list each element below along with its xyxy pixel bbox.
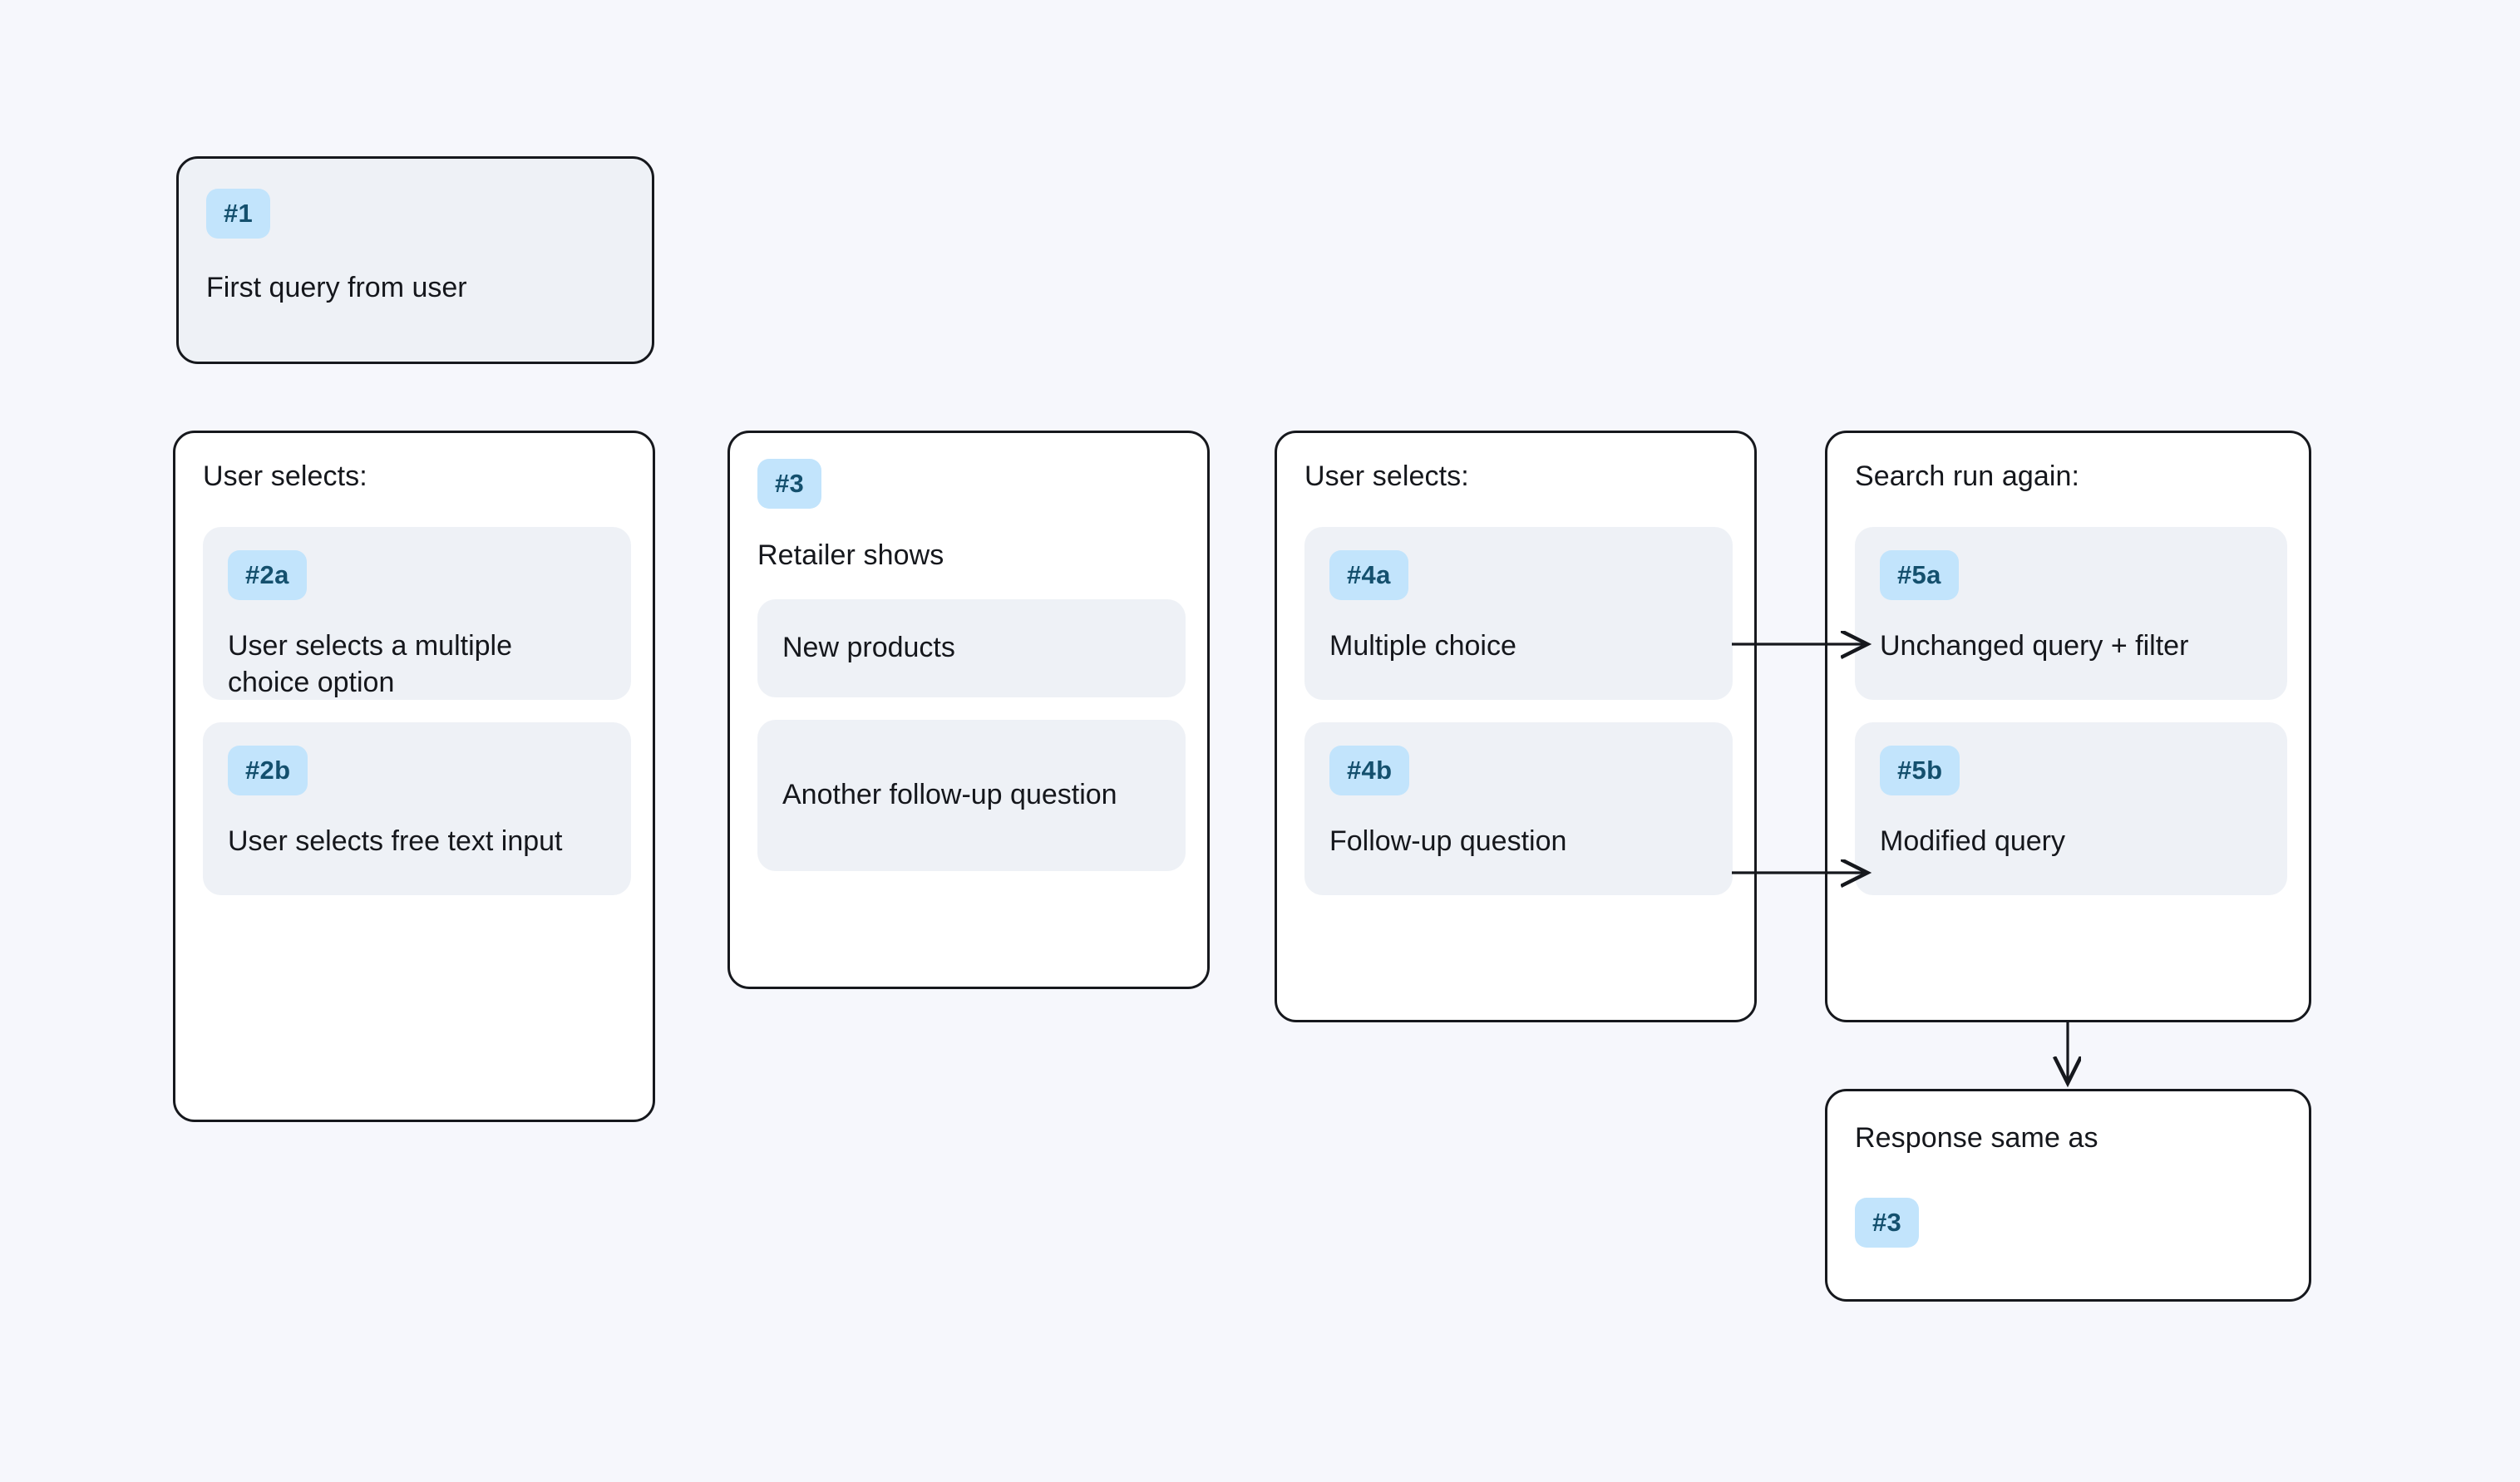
subcard-5a-text: Unchanged query + filter xyxy=(1880,628,2262,665)
subcard-2a[interactable]: #2a User selects a multiple choice optio… xyxy=(203,527,631,700)
node-3-title: Retailer shows xyxy=(757,537,944,574)
subcard-4a[interactable]: #4a Multiple choice xyxy=(1304,527,1733,700)
subcard-5a[interactable]: #5a Unchanged query + filter xyxy=(1855,527,2287,700)
subcard-another-follow-up[interactable]: Another follow-up question xyxy=(757,720,1186,871)
node-response-same-as[interactable]: Response same as #3 xyxy=(1825,1089,2311,1302)
badge-3: #3 xyxy=(757,459,821,509)
badge-5a: #5a xyxy=(1880,550,1959,600)
node-search-run-again[interactable]: Search run again: #5a Unchanged query + … xyxy=(1825,431,2311,1022)
badge-2b: #2b xyxy=(228,746,308,795)
badge-5b: #5b xyxy=(1880,746,1960,795)
subcard-2b-text: User selects free text input xyxy=(228,824,594,860)
subcard-2a-text: User selects a multiple choice option xyxy=(228,628,594,701)
subcard-4b-text: Follow-up question xyxy=(1329,824,1704,860)
subcard-new-products-text: New products xyxy=(757,630,1148,667)
node-retailer-shows[interactable]: #3 Retailer shows New products Another f… xyxy=(727,431,1210,989)
node-1-text: First query from user xyxy=(206,270,467,307)
subcard-new-products[interactable]: New products xyxy=(757,599,1186,697)
node-user-selects-step4[interactable]: User selects: #4a Multiple choice #4b Fo… xyxy=(1275,431,1757,1022)
subcard-another-follow-up-text: Another follow-up question xyxy=(757,777,1148,814)
badge-1: #1 xyxy=(206,189,270,239)
node-6-title: Response same as xyxy=(1855,1120,2098,1156)
node-first-query[interactable]: #1 First query from user xyxy=(176,156,654,364)
node-4-title: User selects: xyxy=(1304,458,1469,495)
subcard-5b[interactable]: #5b Modified query xyxy=(1855,722,2287,895)
node-user-selects-step2[interactable]: User selects: #2a User selects a multipl… xyxy=(173,431,655,1122)
badge-4a: #4a xyxy=(1329,550,1408,600)
subcard-4a-text: Multiple choice xyxy=(1329,628,1704,665)
node-5-title: Search run again: xyxy=(1855,458,2079,495)
badge-response-ref-3: #3 xyxy=(1855,1198,1919,1248)
subcard-5b-text: Modified query xyxy=(1880,824,2262,860)
subcard-4b[interactable]: #4b Follow-up question xyxy=(1304,722,1733,895)
diagram-canvas: #1 First query from user User selects: #… xyxy=(0,0,2520,1482)
subcard-2b[interactable]: #2b User selects free text input xyxy=(203,722,631,895)
badge-4b: #4b xyxy=(1329,746,1409,795)
node-2-title: User selects: xyxy=(203,458,367,495)
badge-2a: #2a xyxy=(228,550,307,600)
